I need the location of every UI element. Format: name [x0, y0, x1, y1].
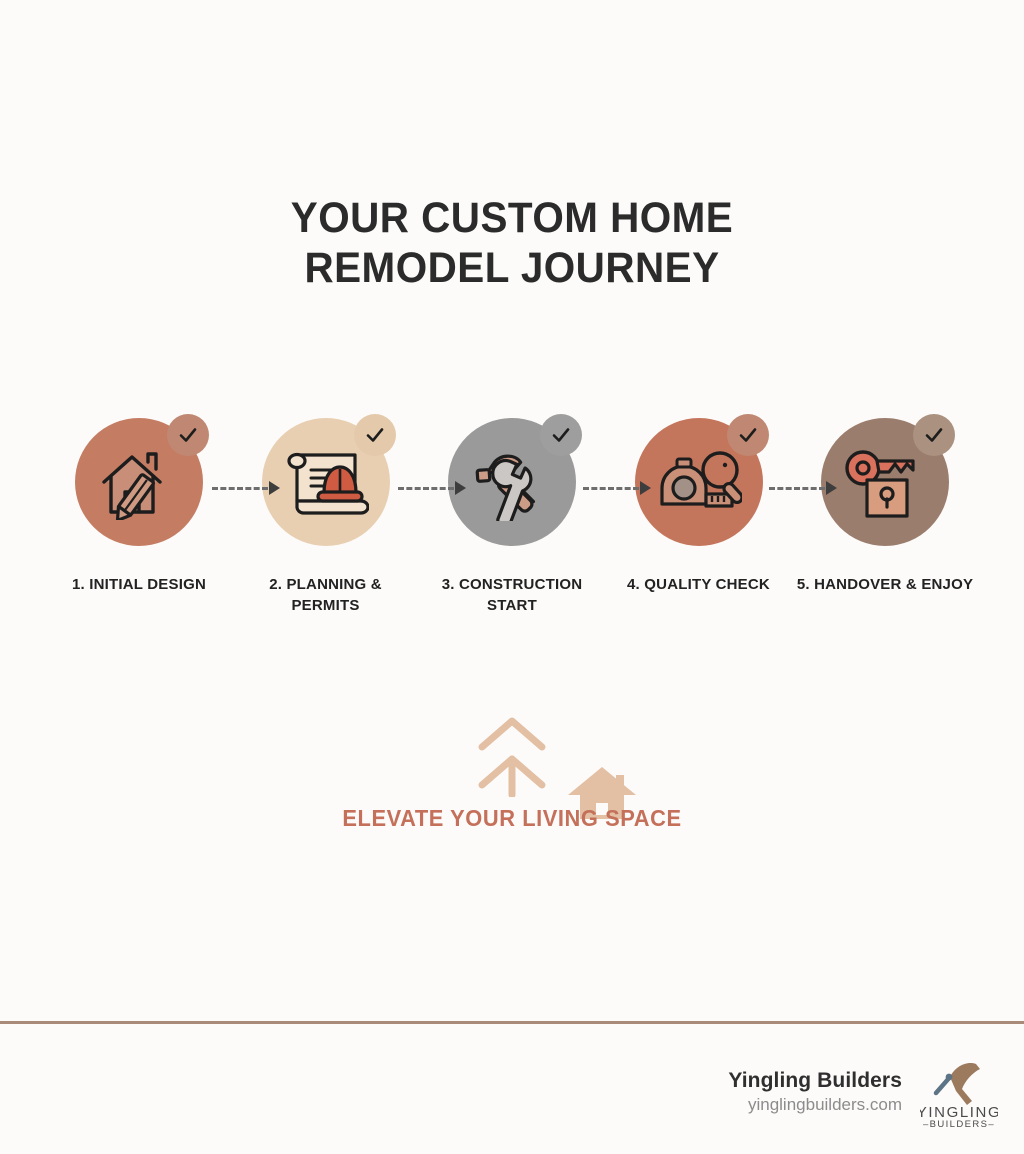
connector-2-3 — [398, 482, 466, 494]
step-3-label: 3. CONSTRUCTION START — [422, 574, 602, 616]
company-name: Yingling Builders — [728, 1068, 902, 1094]
process-step-4[interactable]: 4. QUALITY CHECK — [606, 418, 792, 595]
house-pencil-icon — [98, 444, 180, 520]
step-2-icon-wrap — [262, 418, 390, 546]
key-lock-icon — [843, 446, 927, 518]
tagline-block: ELEVATE YOUR LIVING SPACE — [0, 713, 1024, 843]
check-icon — [177, 424, 199, 446]
arrow-head-icon — [826, 481, 837, 495]
step-2-complete-badge — [354, 414, 396, 456]
step-1-icon-wrap — [75, 418, 203, 546]
tape-measure-magnifier-icon — [656, 446, 742, 518]
logo-tagline: –BUILDERS– — [923, 1119, 995, 1129]
dashed-line — [398, 487, 454, 490]
hammer-logo-icon — [936, 1063, 980, 1105]
connector-3-4 — [583, 482, 651, 494]
dashed-line — [583, 487, 639, 490]
footer-text: Yingling Builders yinglingbuilders.com — [728, 1068, 902, 1116]
double-chevron-up-icon — [466, 713, 558, 802]
step-1-label: 1. INITIAL DESIGN — [49, 574, 229, 595]
check-icon — [737, 424, 759, 446]
process-step-1[interactable]: 1. INITIAL DESIGN — [46, 418, 232, 595]
step-1-complete-badge — [167, 414, 209, 456]
hammer-wrench-icon — [472, 443, 552, 521]
step-5-complete-badge — [913, 414, 955, 456]
process-step-2[interactable]: 2. PLANNING & PERMITS — [233, 418, 419, 616]
title-line-1: YOUR CUSTOM HOME — [31, 193, 994, 243]
tagline-text: ELEVATE YOUR LIVING SPACE — [26, 805, 999, 832]
footer-divider — [0, 1021, 1024, 1024]
footer: Yingling Builders yinglingbuilders.com Y… — [728, 1055, 998, 1129]
page-title: YOUR CUSTOM HOME REMODEL JOURNEY — [0, 193, 1024, 293]
arrow-head-icon — [640, 481, 651, 495]
step-5-label: 5. HANDOVER & ENJOY — [795, 574, 975, 595]
connector-4-5 — [769, 482, 837, 494]
step-4-icon-wrap — [635, 418, 763, 546]
blueprint-hardhat-icon — [283, 445, 369, 519]
connector-1-2 — [212, 482, 280, 494]
dashed-line — [769, 487, 825, 490]
check-icon — [923, 424, 945, 446]
arrow-head-icon — [455, 481, 466, 495]
step-2-label: 2. PLANNING & PERMITS — [236, 574, 416, 616]
infographic-page: YOUR CUSTOM HOME REMODEL JOURNEY — [0, 0, 1024, 1154]
step-4-complete-badge — [727, 414, 769, 456]
check-icon — [364, 424, 386, 446]
arrow-head-icon — [269, 481, 280, 495]
step-5-icon-wrap — [821, 418, 949, 546]
company-website[interactable]: yinglingbuilders.com — [728, 1094, 902, 1116]
company-logo: YINGLING –BUILDERS– — [920, 1055, 998, 1129]
process-steps: 1. INITIAL DESIGN — [46, 418, 978, 616]
title-line-2: REMODEL JOURNEY — [31, 243, 994, 293]
step-3-icon-wrap — [448, 418, 576, 546]
step-3-complete-badge — [540, 414, 582, 456]
process-step-5[interactable]: 5. HANDOVER & ENJOY — [792, 418, 978, 595]
check-icon — [550, 424, 572, 446]
step-4-label: 4. QUALITY CHECK — [609, 574, 789, 595]
dashed-line — [212, 487, 268, 490]
process-step-3[interactable]: 3. CONSTRUCTION START — [419, 418, 605, 616]
